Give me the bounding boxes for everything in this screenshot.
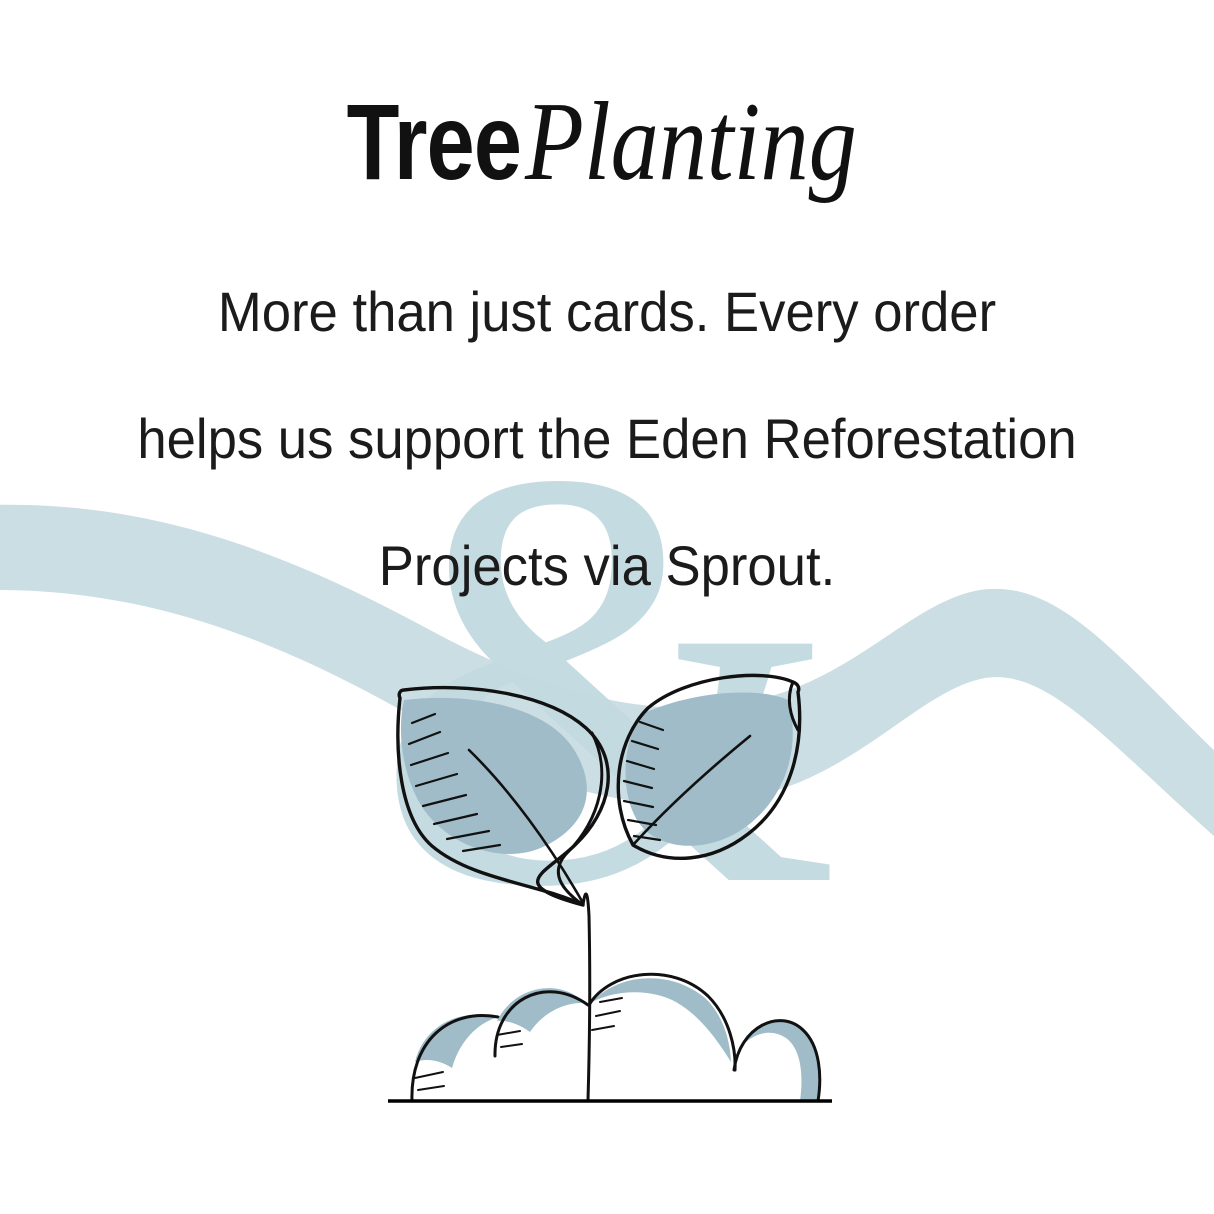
text-content-layer: TreePlanting More than just cards. Every… [0, 0, 1214, 1214]
body-paragraph: More than just cards. Every order helps … [30, 248, 1184, 629]
poster-canvas: & [0, 0, 1214, 1214]
body-line-3: Projects via Sprout. [65, 502, 1150, 629]
body-line-1: More than just cards. Every order [65, 248, 1150, 375]
body-line-2: helps us support the Eden Reforestation [65, 375, 1150, 502]
page-title-bold-word: Tree [347, 88, 522, 196]
page-title: TreePlanting [0, 86, 1214, 198]
page-title-italic-word: Planting [525, 86, 857, 198]
